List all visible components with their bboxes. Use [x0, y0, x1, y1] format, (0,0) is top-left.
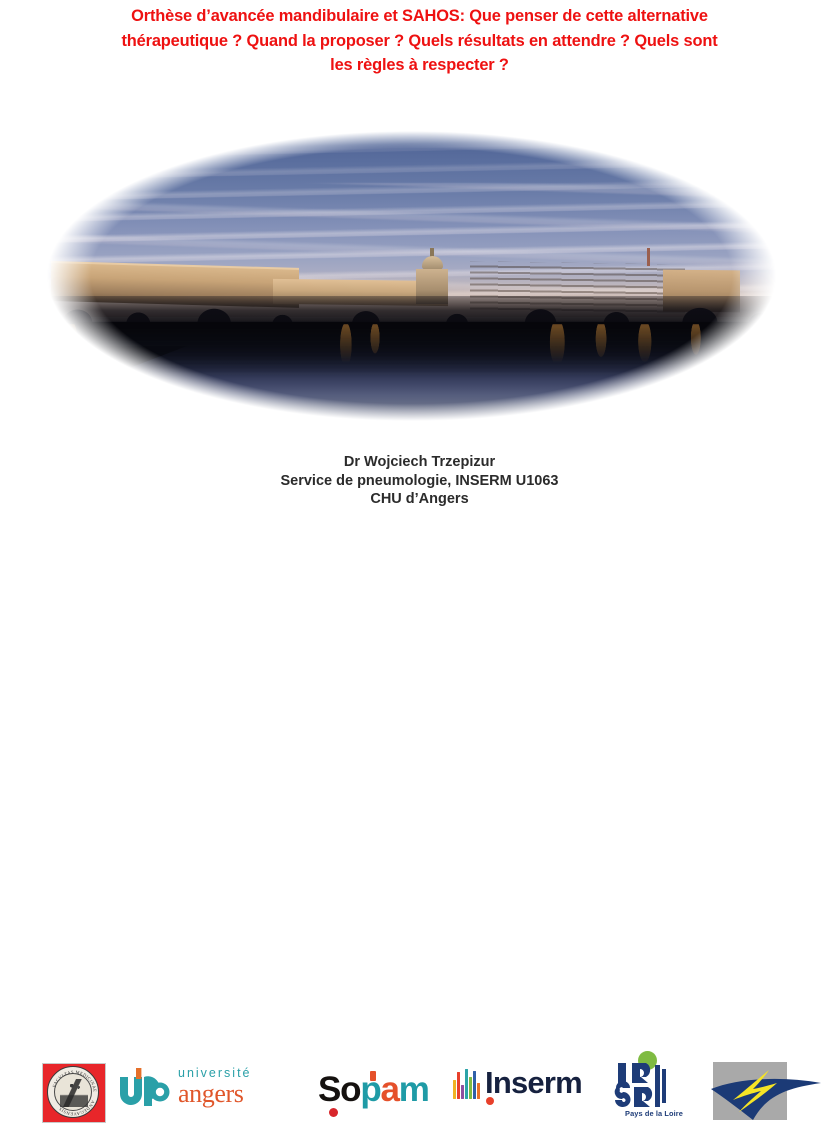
inserm-bars-icon: [453, 1069, 479, 1099]
inserm-wordmark: Inserm: [485, 1066, 582, 1100]
author-affiliation: Service de pneumologie, INSERM U1063: [0, 472, 839, 491]
seal-central-figure-icon: [60, 1079, 88, 1107]
angers-riverfront-photo: [47, 131, 776, 421]
ua-monogram-icon: [118, 1068, 174, 1108]
sopam-letter-s: S: [318, 1070, 340, 1109]
ua-wordmark: université angers: [178, 1066, 290, 1107]
sopam-red-dot-icon: [329, 1108, 338, 1117]
logo-bar: FACVLTAS MEDICINAE ANDEGAVENSIS universi…: [0, 525, 839, 605]
inserm-red-dot-icon: [486, 1097, 494, 1105]
sopam-letter-a: a: [381, 1070, 399, 1109]
irsr-monogram-icon: [608, 1059, 700, 1111]
title-line-3: les règles à respecter ?: [0, 53, 839, 78]
sopam-wordmark: Sopam: [318, 1071, 438, 1109]
author-name: Dr Wojciech Trzepizur: [0, 453, 839, 472]
irsr-subtitle: Pays de la Loire: [608, 1109, 700, 1118]
sopam-letter-o: o: [340, 1070, 360, 1109]
title-line-1: Orthèse d’avancée mandibulaire et SAHOS:…: [0, 4, 839, 29]
title-line-2: thérapeutique ? Quand la proposer ? Quel…: [0, 29, 839, 54]
sopam-orange-accent-icon: [370, 1071, 376, 1081]
title-photo-frame: [47, 131, 776, 421]
faculte-medecine-angers-seal-logo: FACVLTAS MEDICINAE ANDEGAVENSIS: [42, 1063, 106, 1123]
seal-outer-ring: FACVLTAS MEDICINAE ANDEGAVENSIS: [47, 1066, 99, 1118]
author-institution: CHU d’Angers: [0, 490, 839, 509]
ua-wordmark-universite: université: [178, 1066, 290, 1081]
inserm-logo: Inserm: [453, 1067, 593, 1111]
sopam-letter-m: m: [399, 1070, 429, 1109]
irsr-pays-de-la-loire-logo: Pays de la Loire: [608, 1051, 700, 1125]
slide-title: Orthèse d’avancée mandibulaire et SAHOS:…: [0, 4, 839, 78]
chu-angers-swoosh-logo: [709, 1062, 824, 1124]
chu-swoosh-icon: [709, 1062, 824, 1124]
sopam-logo: Sopam: [318, 1071, 438, 1115]
author-block: Dr Wojciech Trzepizur Service de pneumol…: [0, 453, 839, 509]
ua-wordmark-angers: angers: [178, 1080, 290, 1107]
universite-angers-logo: université angers: [118, 1066, 288, 1112]
